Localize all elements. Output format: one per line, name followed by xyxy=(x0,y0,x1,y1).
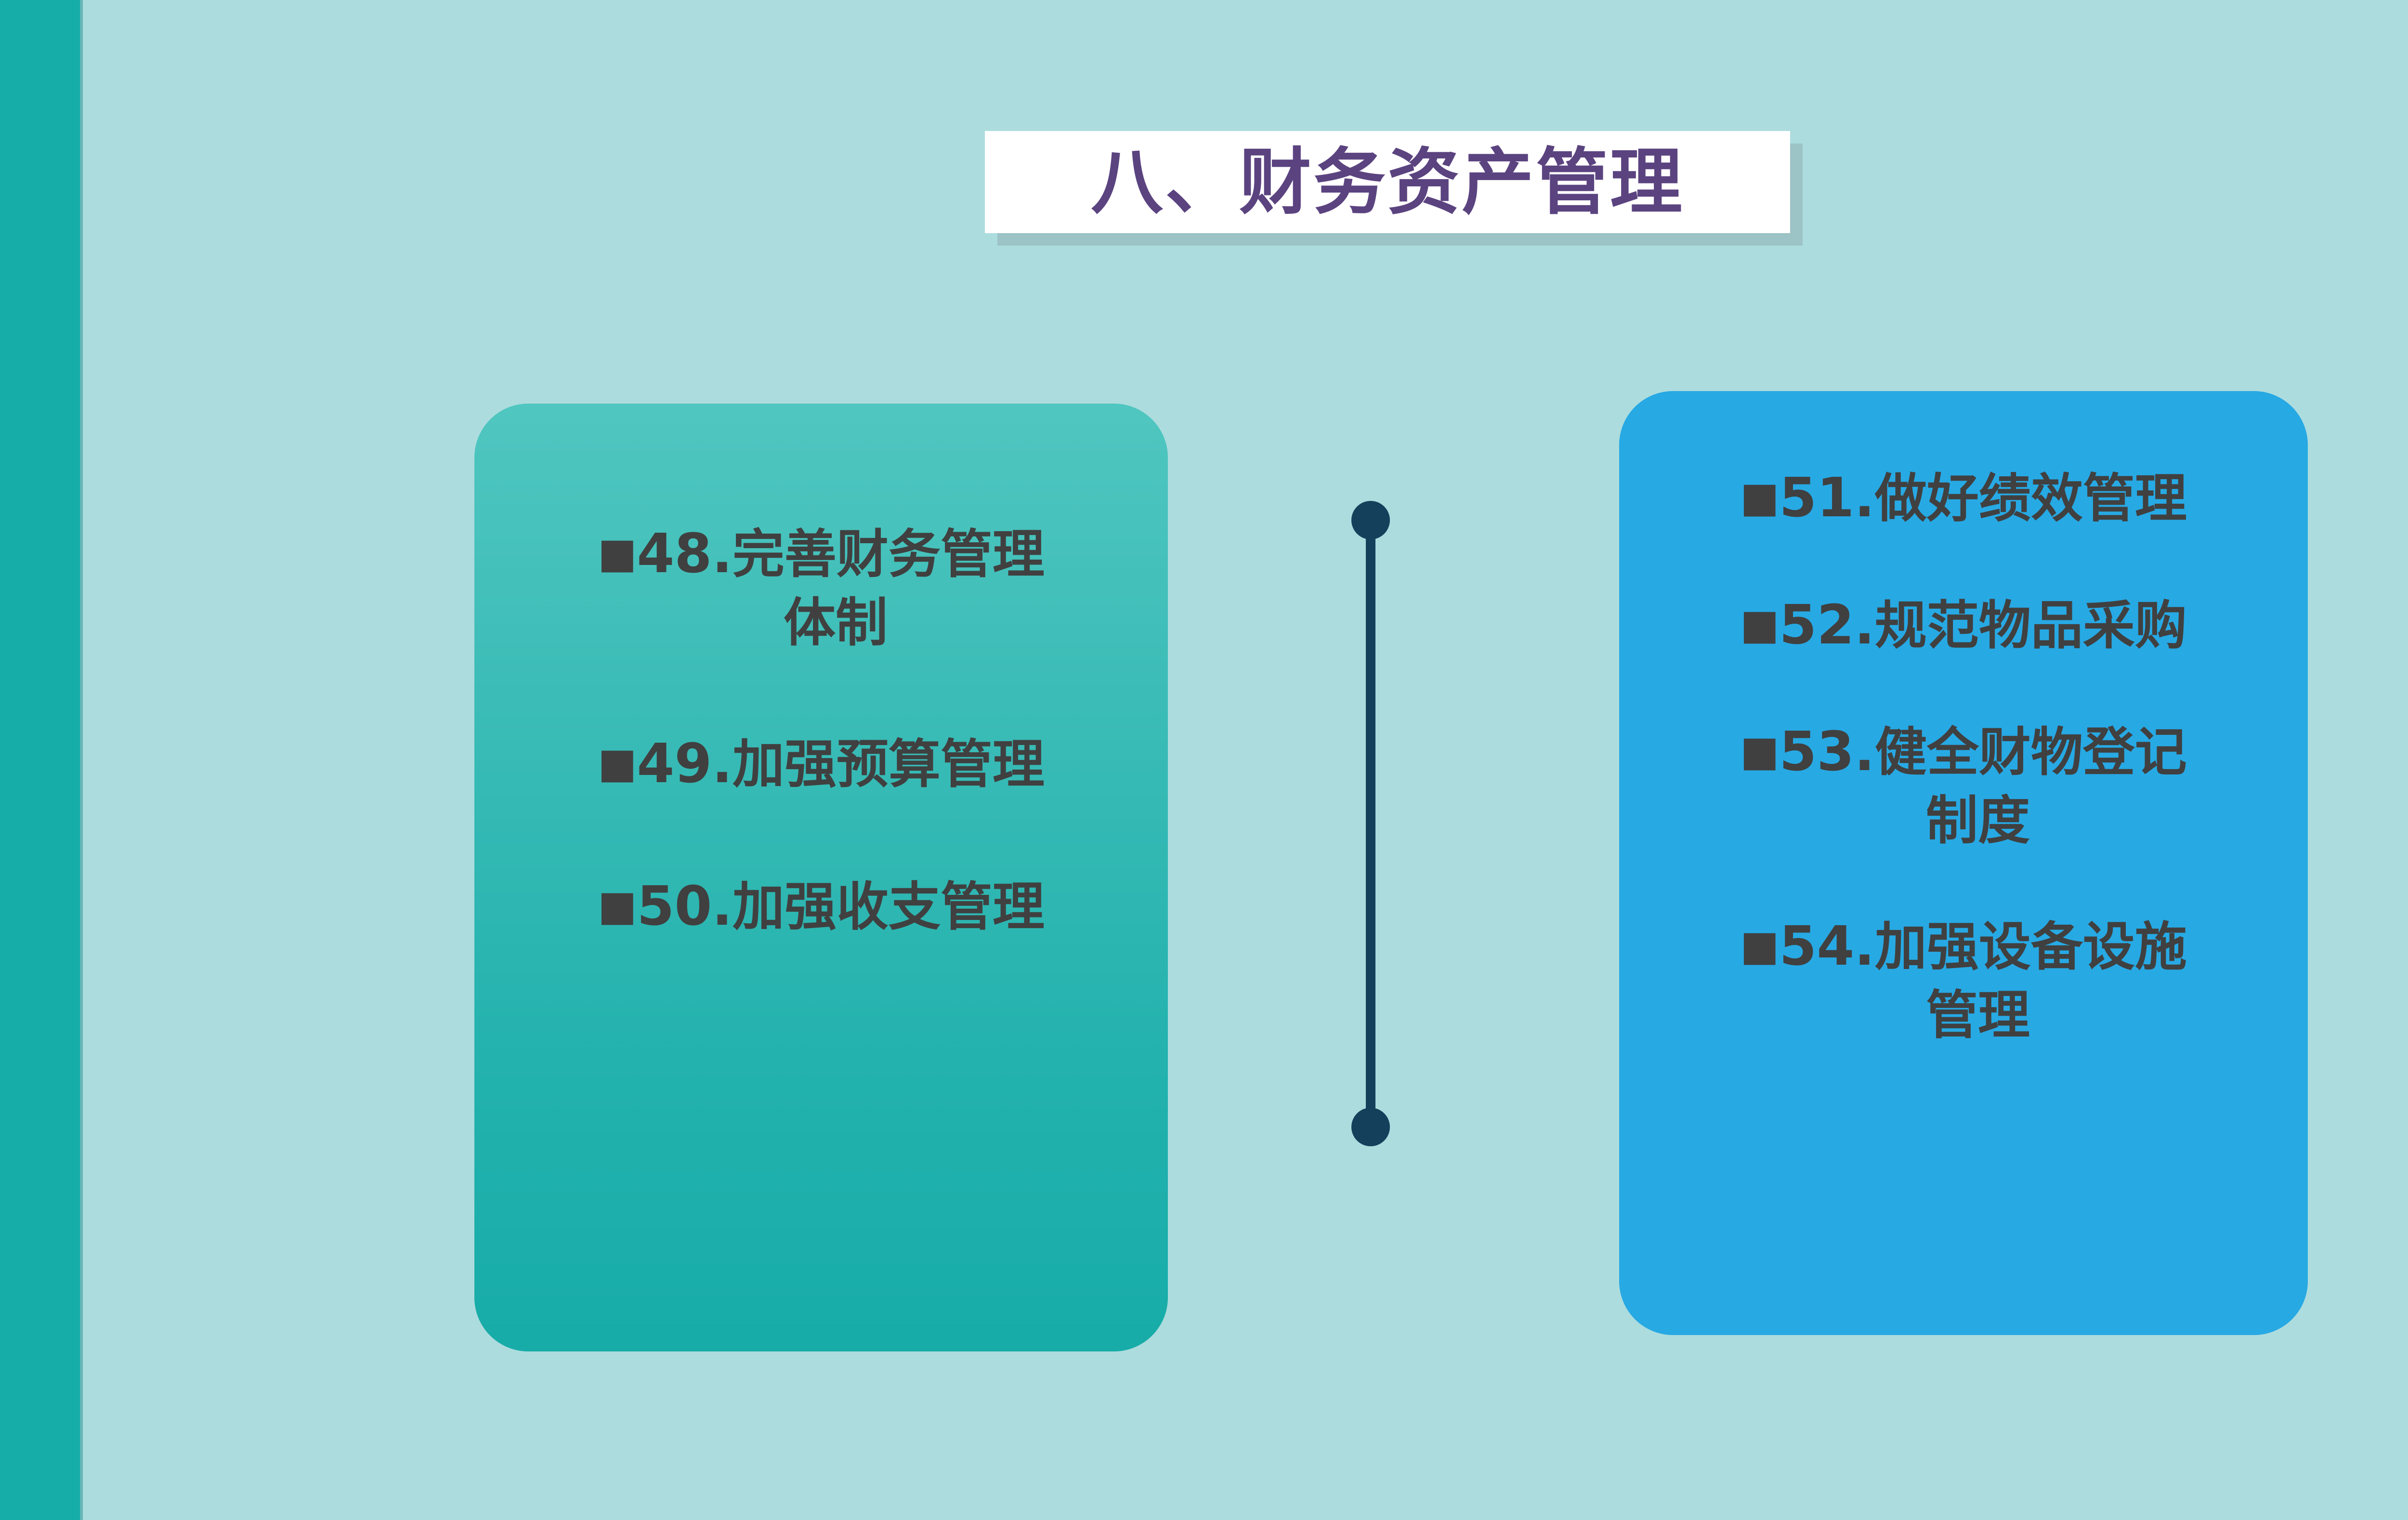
square-bullet-icon: ■ xyxy=(598,882,637,930)
center-connector xyxy=(1351,501,1390,1146)
list-item[interactable]: ■49.加强预算管理 xyxy=(503,729,1139,799)
list-item-first-line: ■49.加强预算管理 xyxy=(503,729,1139,799)
title-box: 八、财务资产管理 xyxy=(985,131,1790,233)
page-title: 八、财务资产管理 xyxy=(1091,146,1684,218)
list-item-label-continued: 制度 xyxy=(1648,787,2279,855)
list-item-first-line: ■48.完善财务管理 xyxy=(503,519,1139,590)
left-content-card: ■48.完善财务管理体制■49.加强预算管理■50.加强收支管理 xyxy=(474,404,1168,1351)
left-accent-bar xyxy=(0,0,80,1520)
list-item-first-line: ■53.健全财物登记 xyxy=(1648,717,2279,787)
list-item-number: 48. xyxy=(637,523,732,585)
list-item-label: 做好绩效管理 xyxy=(1875,469,2187,529)
list-item-number: 49. xyxy=(637,733,732,795)
list-item-label: 加强设备设施 xyxy=(1875,917,2187,977)
square-bullet-icon: ■ xyxy=(598,739,637,787)
list-item-label-continued: 管理 xyxy=(1648,982,2279,1049)
list-item-first-line: ■50.加强收支管理 xyxy=(503,872,1139,942)
right-content-card: ■51.做好绩效管理■52.规范物品采购■53.健全财物登记制度■54.加强设备… xyxy=(1619,391,2308,1335)
square-bullet-icon: ■ xyxy=(1740,601,1779,649)
list-item-label: 加强预算管理 xyxy=(733,734,1045,795)
list-item[interactable]: ■51.做好绩效管理 xyxy=(1648,463,2279,534)
connector-dot-bottom-icon xyxy=(1351,1108,1390,1146)
slide-canvas: 八、财务资产管理 ■48.完善财务管理体制■49.加强预算管理■50.加强收支管… xyxy=(0,0,2408,1520)
list-item-label-continued: 体制 xyxy=(503,590,1139,657)
list-item[interactable]: ■48.完善财务管理体制 xyxy=(503,519,1139,657)
list-item-first-line: ■54.加强设备设施 xyxy=(1648,912,2279,982)
square-bullet-icon: ■ xyxy=(1740,473,1779,522)
list-item-first-line: ■52.规范物品采购 xyxy=(1648,590,2279,661)
list-item-number: 51. xyxy=(1779,467,1874,529)
list-item-label: 加强收支管理 xyxy=(733,877,1045,937)
list-item-first-line: ■51.做好绩效管理 xyxy=(1648,463,2279,534)
square-bullet-icon: ■ xyxy=(598,529,637,577)
list-item[interactable]: ■54.加强设备设施管理 xyxy=(1648,912,2279,1049)
square-bullet-icon: ■ xyxy=(1740,922,1779,970)
list-item-number: 54. xyxy=(1779,915,1874,978)
list-item-number: 53. xyxy=(1779,721,1874,783)
connector-line xyxy=(1366,511,1375,1138)
square-bullet-icon: ■ xyxy=(1740,727,1779,775)
list-item-label: 规范物品采购 xyxy=(1875,596,2187,656)
list-item[interactable]: ■52.规范物品采购 xyxy=(1648,590,2279,661)
list-item-label: 完善财务管理 xyxy=(733,524,1045,585)
list-item-number: 52. xyxy=(1779,594,1874,656)
list-item[interactable]: ■50.加强收支管理 xyxy=(503,872,1139,942)
list-item-label: 健全财物登记 xyxy=(1875,722,2187,783)
left-accent-bar-edge xyxy=(80,0,83,1520)
list-item[interactable]: ■53.健全财物登记制度 xyxy=(1648,717,2279,855)
list-item-number: 50. xyxy=(637,875,732,938)
